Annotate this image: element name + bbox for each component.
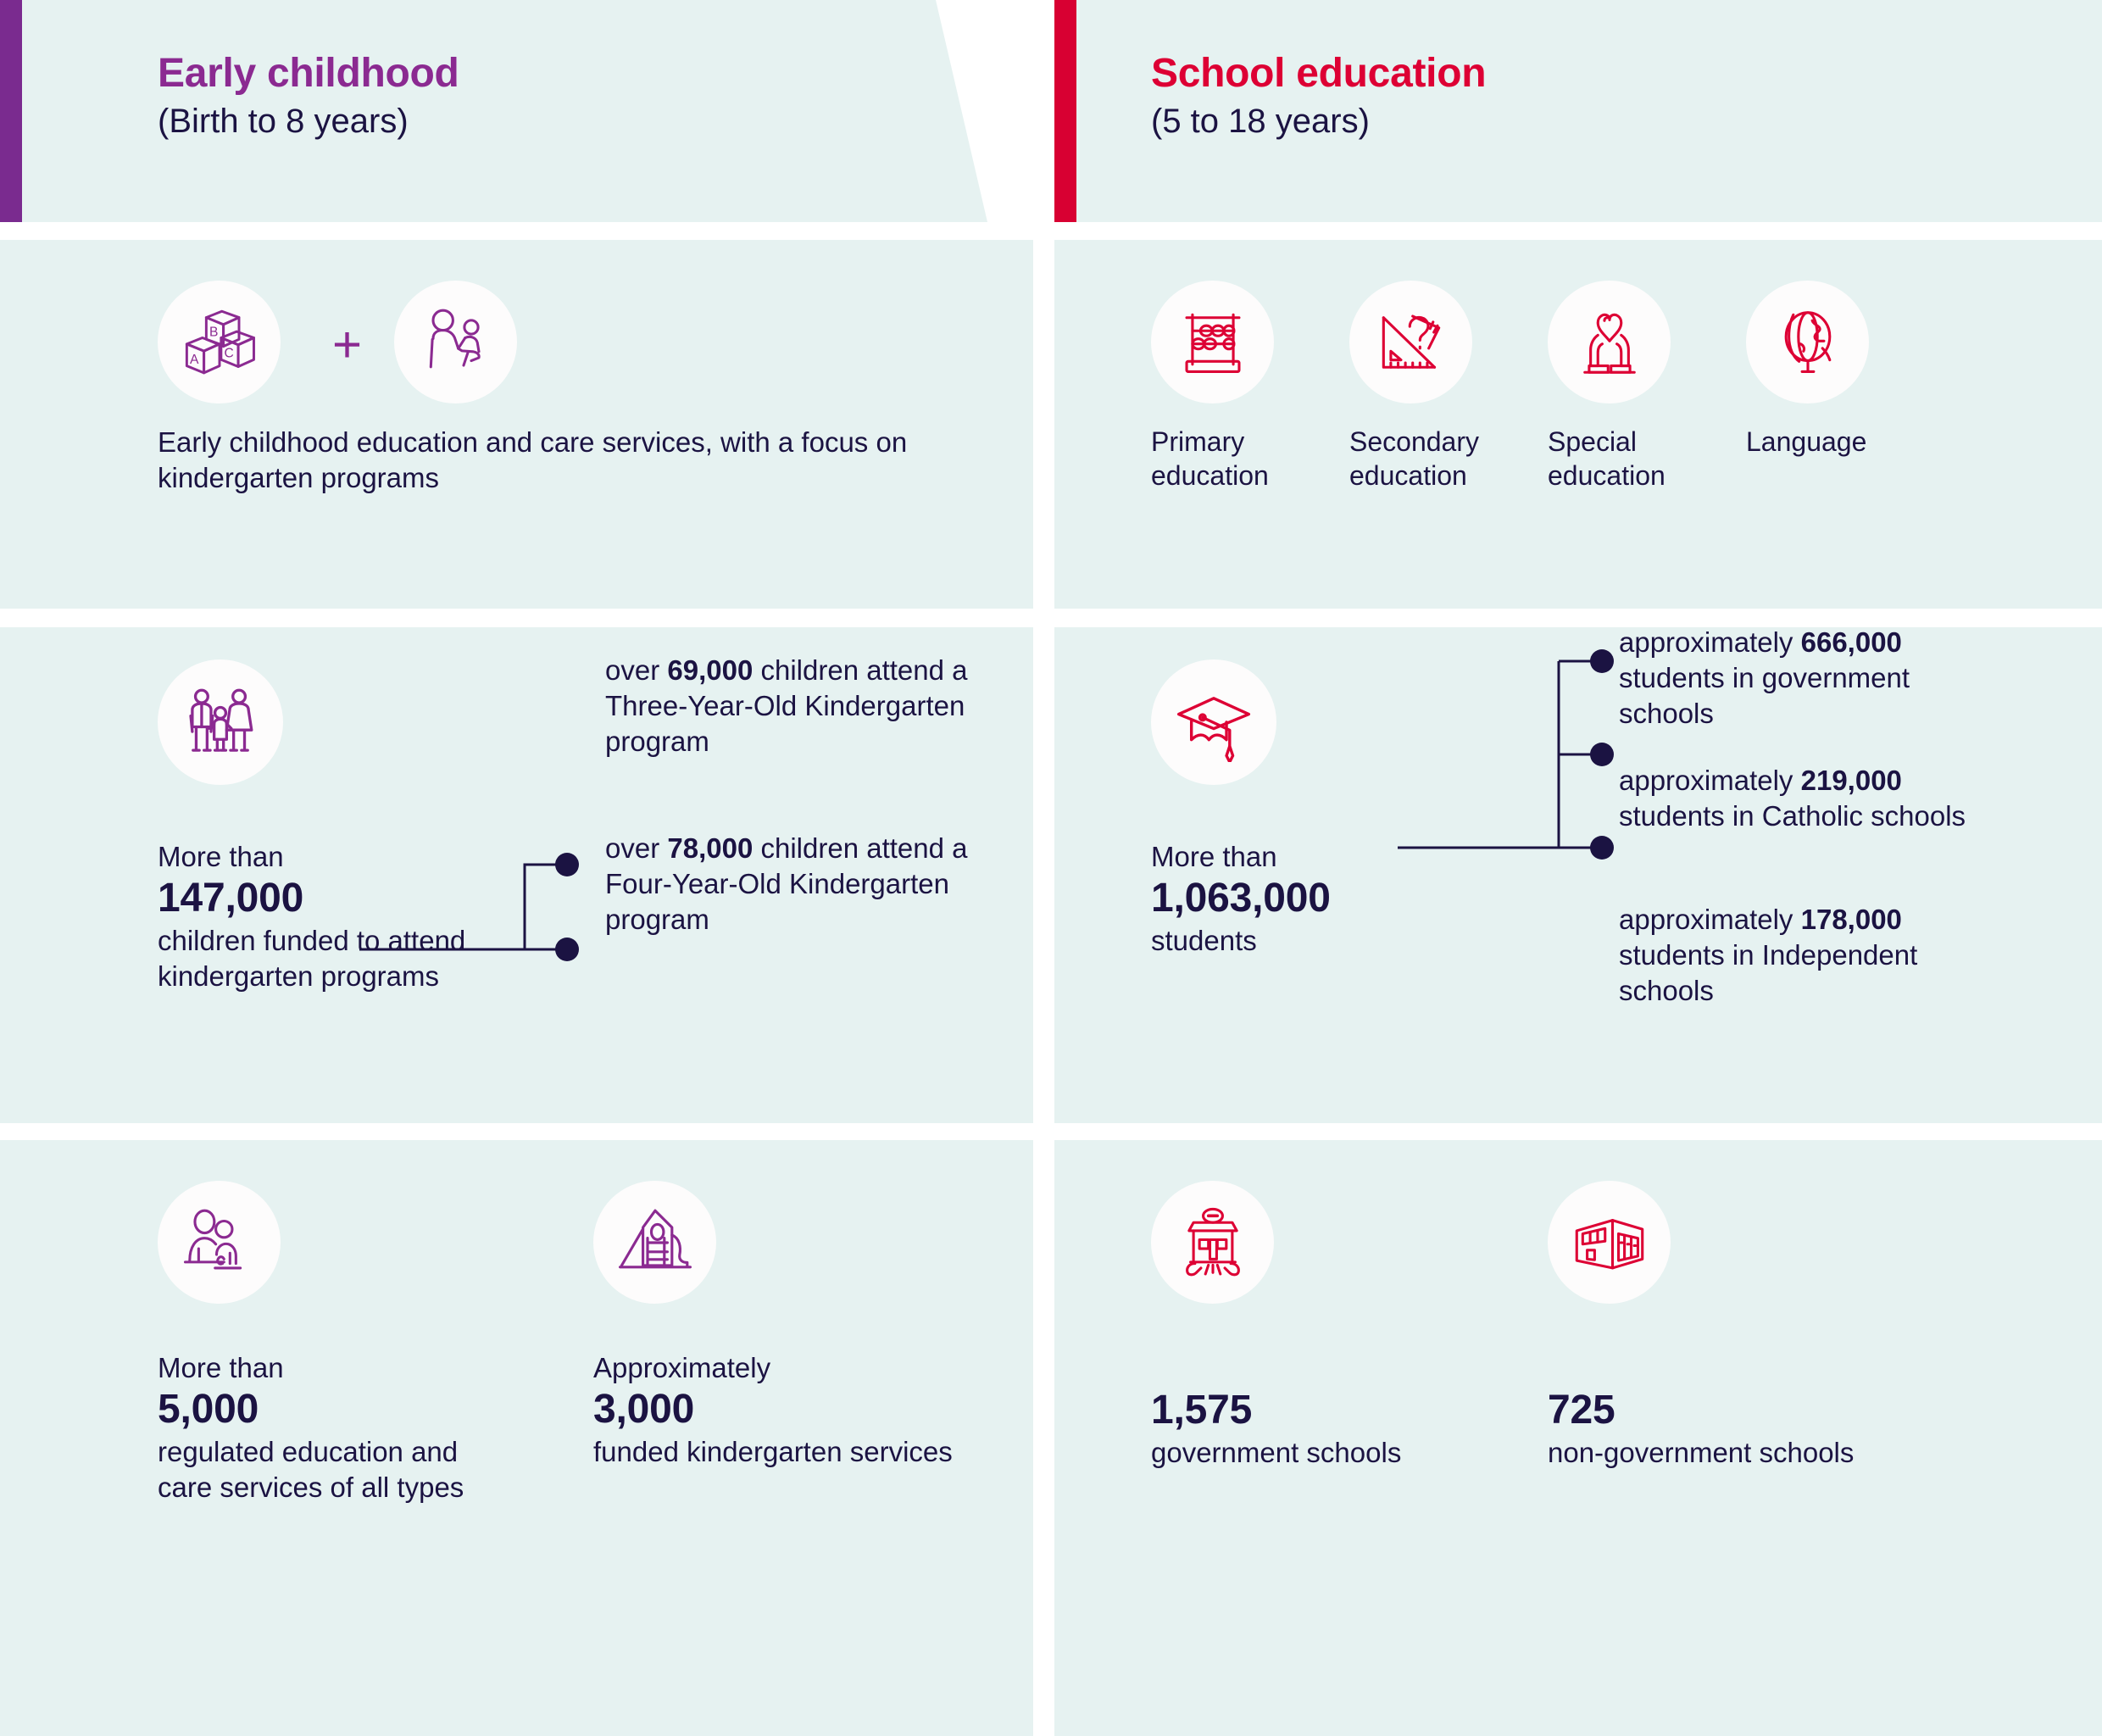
school-education-branch-2-text: approximately 219,000 students in Cathol… — [1619, 763, 1992, 834]
branch-prefix: approximately — [1619, 626, 1801, 658]
educator-with-children-icon — [158, 1181, 281, 1304]
stat-description: funded kindergarten services — [593, 1434, 966, 1470]
category-label-primary-education: Primary education — [1151, 425, 1312, 492]
early-childhood-branch-1-text: over 69,000 children attend a Three-Year… — [605, 653, 978, 760]
modern-building-icon — [1548, 1181, 1671, 1304]
school-education-accent-bar — [1054, 0, 1076, 222]
stat-value: 3,000 — [593, 1385, 966, 1434]
branch-prefix: approximately — [1619, 765, 1801, 796]
ruler-protractor-icon — [1349, 281, 1472, 403]
school-education-row3-panel: 1,575 government schools 725 non-governm… — [1054, 1140, 2102, 1736]
stat-description: students — [1151, 923, 1524, 959]
school-education-branch-3-text: approximately 178,000 students in Indepe… — [1619, 902, 2009, 1010]
caregiver-with-child-icon — [394, 281, 517, 403]
government-schools-stat: 1,575 government schools — [1151, 1386, 1473, 1471]
stat-value: 1,575 — [1151, 1386, 1473, 1435]
category-label-secondary-education: Secondary education — [1349, 425, 1519, 492]
school-education-row1-panel: Primary education Secondary education — [1054, 240, 2102, 609]
category-label-special-education: Special education — [1548, 425, 1700, 492]
early-childhood-row1-panel: B A C + — [0, 240, 1033, 609]
branch-suffix: students in Catholic schools — [1619, 800, 1966, 832]
branch-prefix: approximately — [1619, 904, 1801, 935]
svg-text:A: A — [190, 352, 199, 366]
stat-description: government schools — [1151, 1435, 1473, 1471]
early-childhood-accent-bar — [0, 0, 22, 222]
early-childhood-header-text: Early childhood (Birth to 8 years) — [158, 53, 459, 142]
abc-blocks-icon: B A C — [158, 281, 281, 403]
abacus-icon — [1151, 281, 1274, 403]
heart-in-hands-icon — [1548, 281, 1671, 403]
branch-prefix: over — [605, 654, 667, 686]
branch-suffix: students in Independent schools — [1619, 939, 1917, 1006]
early-childhood-branch-connector — [359, 856, 605, 1009]
stat-description: non-government schools — [1548, 1435, 1904, 1471]
school-education-title: School education — [1151, 53, 1486, 96]
stat-value: 5,000 — [158, 1385, 514, 1434]
school-building-icon — [1151, 1181, 1274, 1304]
branch-value: 666,000 — [1801, 626, 1902, 658]
branch-value: 69,000 — [667, 654, 753, 686]
school-education-branch-connector — [1398, 602, 1652, 907]
branch-value: 178,000 — [1801, 904, 1902, 935]
plus-icon: + — [332, 320, 362, 370]
branch-prefix: over — [605, 832, 667, 864]
stat-prefix: More than — [158, 1350, 514, 1385]
early-childhood-header-panel — [0, 0, 987, 222]
school-education-header-text: School education (5 to 18 years) — [1151, 53, 1486, 142]
early-childhood-row1-description: Early childhood education and care servi… — [158, 425, 954, 496]
early-childhood-branch-2-text: over 78,000 children attend a Four-Year-… — [605, 831, 978, 938]
school-education-subtitle: (5 to 18 years) — [1151, 101, 1486, 142]
stat-description: regulated education and care services of… — [158, 1434, 514, 1505]
graduation-cap-icon — [1151, 659, 1276, 785]
early-childhood-row2-panel: More than 147,000 children funded to att… — [0, 627, 1033, 1123]
early-childhood-row3-panel: More than 5,000 regulated education and … — [0, 1140, 1033, 1736]
family-icon — [158, 659, 283, 785]
category-label-language: Language — [1746, 425, 1899, 459]
branch-suffix: students in government schools — [1619, 662, 1910, 729]
early-childhood-title: Early childhood — [158, 53, 459, 96]
stat-prefix: Approximately — [593, 1350, 966, 1385]
svg-text:B: B — [209, 325, 218, 339]
playground-slide-icon — [593, 1181, 716, 1304]
funded-kinder-services-stat: Approximately 3,000 funded kindergarten … — [593, 1350, 966, 1470]
stat-value: 725 — [1548, 1386, 1904, 1435]
early-childhood-subtitle: (Birth to 8 years) — [158, 101, 459, 142]
globe-icon — [1746, 281, 1869, 403]
school-education-row2-panel: More than 1,063,000 students approximate… — [1054, 627, 2102, 1123]
regulated-services-stat: More than 5,000 regulated education and … — [158, 1350, 514, 1505]
non-government-schools-stat: 725 non-government schools — [1548, 1386, 1904, 1471]
infographic-board: Early childhood (Birth to 8 years) Schoo… — [0, 0, 2102, 1736]
branch-value: 219,000 — [1801, 765, 1902, 796]
branch-value: 78,000 — [667, 832, 753, 864]
school-education-branch-1-text: approximately 666,000 students in govern… — [1619, 625, 1992, 732]
svg-text:C: C — [224, 346, 233, 360]
